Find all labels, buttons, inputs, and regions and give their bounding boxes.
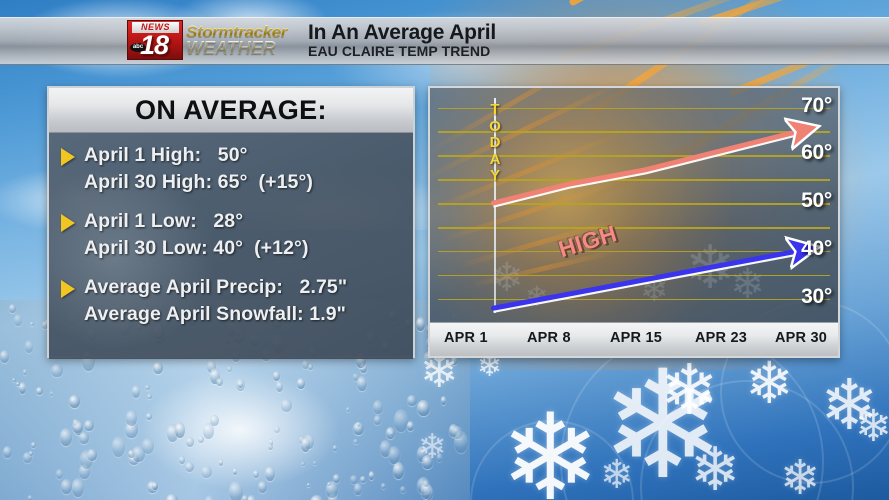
triangle-right-icon (61, 214, 75, 232)
y-axis-tick-label: 40° (801, 237, 832, 261)
stat-line: April 1 High: 50° (84, 142, 413, 169)
raindrop (276, 381, 283, 391)
snowflake-icon: ❄ (660, 355, 719, 425)
raindrop (307, 483, 310, 487)
raindrop (28, 495, 32, 500)
raindrop (369, 471, 374, 480)
raindrop (452, 426, 462, 439)
series-highlight (493, 254, 798, 311)
raindrop (423, 480, 430, 487)
raindrop (14, 314, 22, 326)
raindrop (12, 378, 15, 382)
raindrop (25, 340, 33, 352)
raindrop (203, 423, 213, 439)
raindrop (297, 378, 304, 390)
x-axis-tick-label: APR 23 (695, 330, 747, 346)
raindrop (132, 446, 145, 462)
screen: ❄❄❄❄❄❄❄❄❄❄❄❄ NEWS 18 abc Stormtracker WE… (0, 0, 889, 500)
raindrop (238, 381, 243, 388)
snowflake-icon: ❄ (855, 405, 889, 449)
title-bar-content: NEWS 18 abc Stormtracker WEATHER In An A… (0, 17, 889, 63)
x-axis-tick-label: APR 15 (610, 330, 662, 346)
raindrop (80, 450, 93, 469)
panel-header: ON AVERAGE: (49, 88, 413, 133)
x-axis: APR 1APR 8APR 15APR 23APR 30 (430, 322, 838, 356)
raindrop (394, 409, 408, 432)
panel-heading: ON AVERAGE: (135, 95, 327, 126)
raindrop (51, 364, 62, 377)
logo-badge: NEWS 18 abc (127, 20, 183, 60)
snowflake-icon: ❄ (745, 355, 794, 413)
station-logo: NEWS 18 abc Stormtracker WEATHER (127, 20, 299, 60)
raindrop (400, 486, 406, 493)
raindrop (229, 481, 242, 500)
chart-plot-area: ❄❄❄❄❄ TODAY HIGH LOW 70°60°50°40°30° (430, 88, 838, 323)
raindrop (233, 468, 237, 475)
snowflake-icon: ❄ (780, 455, 820, 500)
stat-line: April 1 Low: 28° (84, 208, 413, 235)
snowflake-icon: ❄ (500, 398, 601, 500)
raindrop (333, 445, 336, 451)
raindrop (227, 366, 232, 372)
raindrop (353, 439, 358, 445)
raindrop (242, 495, 249, 500)
raindrop (3, 446, 12, 458)
raindrop (31, 442, 36, 448)
snowflake-icon: ❄ (600, 455, 634, 495)
stat-group-precip: Average April Precip: 2.75" Average Apri… (49, 274, 413, 328)
raindrop (79, 432, 89, 444)
raindrop (0, 350, 9, 362)
raindrop (112, 436, 125, 458)
raindrop (346, 407, 350, 412)
snowflake-icon: ❄ (418, 430, 447, 464)
raindrop (417, 400, 430, 416)
raindrop (145, 385, 149, 390)
raindrop (301, 462, 305, 466)
raindrop (258, 481, 268, 493)
stat-line: April 30 Low: 40° (+12°) (84, 235, 413, 262)
raindrop (273, 371, 279, 381)
raindrop (84, 420, 93, 432)
triangle-right-icon (61, 148, 75, 166)
raindrop (186, 437, 193, 447)
x-axis-tick-label: APR 30 (775, 330, 827, 346)
raindrop (247, 495, 257, 500)
raindrop (19, 382, 26, 394)
raindrop (126, 410, 137, 425)
raindrop (265, 466, 275, 481)
on-average-panel: ON AVERAGE: April 1 High: 50° April 30 H… (47, 86, 415, 358)
snowflake-icon: ❄ (690, 440, 740, 500)
panel-body: April 1 High: 50° April 30 High: 65° (+1… (49, 133, 413, 359)
stat-line: Average April Snowfall: 1.9" (84, 301, 413, 328)
raindrop (147, 394, 152, 400)
temp-trend-chart: ❄❄❄❄❄ TODAY HIGH LOW 70°60°50°40°30° (428, 86, 840, 358)
raindrop (407, 395, 416, 406)
raindrop (72, 420, 83, 433)
series-line-high (493, 131, 798, 203)
raindrop (23, 452, 32, 463)
page-subtitle: EAU CLAIRE TEMP TREND (308, 43, 496, 59)
y-axis-tick-label: 70° (801, 94, 832, 118)
stat-group-high: April 1 High: 50° April 30 High: 65° (+1… (49, 142, 413, 196)
page-title: In An Average April (308, 22, 496, 43)
y-axis-tick-label: 30° (801, 285, 832, 309)
series-line-low (493, 251, 798, 308)
y-axis-tick-label: 60° (801, 141, 832, 165)
raindrop (268, 443, 273, 451)
raindrop (198, 436, 204, 443)
raindrop (56, 469, 62, 479)
raindrop (360, 476, 366, 484)
raindrop (381, 483, 386, 489)
raindrop (69, 395, 80, 408)
abc-network-icon: abc (130, 43, 146, 52)
raindrop (132, 385, 141, 398)
chart-series-svg (430, 88, 838, 323)
raindrop (302, 360, 309, 369)
raindrop (350, 475, 357, 485)
raindrop (373, 400, 383, 413)
x-axis-tick-label: APR 1 (444, 330, 488, 346)
headline-block: In An Average April EAU CLAIRE TEMP TREN… (308, 22, 496, 59)
raindrop (36, 387, 43, 395)
stat-line: Average April Precip: 2.75" (84, 274, 413, 301)
raindrop (393, 462, 404, 479)
logo-brand-bottom: WEATHER (186, 40, 299, 57)
stat-group-low: April 1 Low: 28° April 30 Low: 40° (+12°… (49, 208, 413, 262)
x-axis-tick-label: APR 8 (527, 330, 571, 346)
raindrop (327, 482, 331, 487)
stat-line: April 30 High: 65° (+15°) (84, 169, 413, 196)
raindrop (72, 478, 84, 497)
raindrop (60, 428, 73, 446)
raindrop (386, 427, 395, 439)
raindrop (61, 479, 71, 493)
y-axis-tick-label: 50° (801, 189, 832, 213)
raindrop (166, 494, 178, 500)
raindrop (179, 456, 185, 464)
raindrop (146, 413, 152, 420)
raindrop (152, 482, 158, 490)
raindrop (313, 461, 317, 466)
triangle-right-icon (61, 280, 75, 298)
raindrop (301, 437, 311, 452)
logo-wordmark: Stormtracker WEATHER (183, 20, 299, 60)
raindrop (16, 382, 20, 386)
raindrop (374, 415, 381, 425)
raindrop (441, 396, 446, 405)
